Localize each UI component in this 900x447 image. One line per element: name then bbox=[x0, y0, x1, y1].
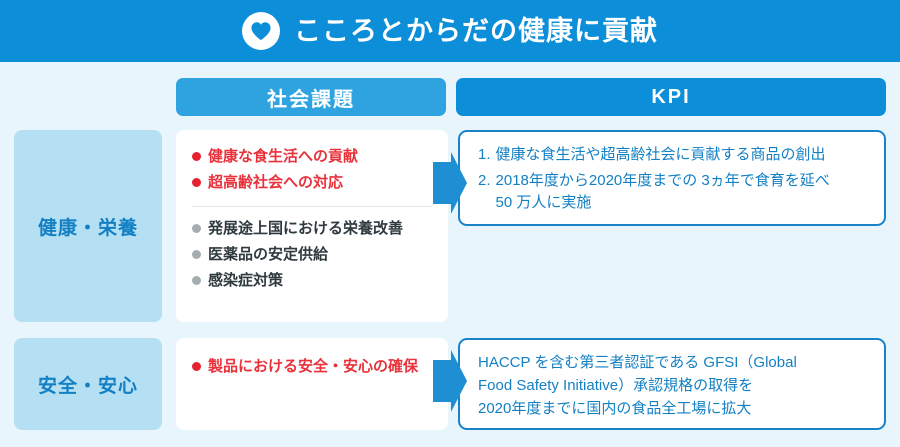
kpi-number: 2. bbox=[478, 170, 491, 192]
kpi-text: 2018年度から2020年度までの 3ヵ年で食育を延べ 50 万人に実施 bbox=[496, 170, 868, 214]
gray-bullet-icon bbox=[192, 276, 201, 285]
issue-list-primary: 健康な食生活への貢献 超高齢社会への対応 bbox=[192, 146, 432, 194]
category-label-safety-security: 安全・安心 bbox=[14, 338, 162, 430]
row-safety-security: 安全・安心 製品における安全・安心の確保 HACCP を含む第三者認証である G… bbox=[0, 338, 900, 430]
kpi-number: 1. bbox=[478, 144, 491, 166]
arrow-right-icon bbox=[433, 152, 467, 214]
kpi-list: 1. 健康な食生活や超高齢社会に貢献する商品の創出 2. 2018年度から202… bbox=[478, 144, 868, 215]
list-item: 発展途上国における栄養改善 bbox=[192, 218, 432, 239]
kpi-text-line: 50 万人に実施 bbox=[496, 192, 868, 214]
card-divider bbox=[192, 206, 432, 207]
issue-text: 健康な食生活への貢献 bbox=[208, 146, 358, 167]
kpi-card-health-nutrition: 1. 健康な食生活や超高齢社会に貢献する商品の創出 2. 2018年度から202… bbox=[458, 130, 886, 226]
issue-list-secondary: 発展途上国における栄養改善 医薬品の安定供給 感染症対策 bbox=[192, 218, 432, 292]
list-item: 健康な食生活への貢献 bbox=[192, 146, 432, 167]
page-title: こころとからだの健康に貢献 bbox=[294, 18, 658, 45]
issue-text: 超高齢社会への対応 bbox=[208, 172, 343, 193]
list-item: 2. 2018年度から2020年度までの 3ヵ年で食育を延べ 50 万人に実施 bbox=[478, 170, 868, 214]
row-health-nutrition: 健康・栄養 健康な食生活への貢献 超高齢社会への対応 発展途上国における栄養改善 bbox=[0, 130, 900, 322]
list-item: 医薬品の安定供給 bbox=[192, 244, 432, 265]
red-bullet-icon bbox=[192, 178, 201, 187]
red-bullet-icon bbox=[192, 362, 201, 371]
issue-text: 発展途上国における栄養改善 bbox=[208, 218, 403, 239]
header-band: こころとからだの健康に貢献 bbox=[0, 0, 900, 62]
kpi-text-line: 2020年度までに国内の食品全工場に拡大 bbox=[478, 398, 868, 421]
issue-text: 医薬品の安定供給 bbox=[208, 244, 328, 265]
slide-root: こころとからだの健康に貢献 社会課題 KPI 健康・栄養 健康な食生活への貢献 … bbox=[0, 0, 900, 447]
kpi-text-line: HACCP を含む第三者認証である GFSI（Global bbox=[478, 352, 868, 375]
arrow-right-icon bbox=[433, 350, 467, 412]
list-item: 製品における安全・安心の確保 bbox=[192, 356, 432, 377]
kpi-text: 健康な食生活や超高齢社会に貢献する商品の創出 bbox=[496, 144, 868, 166]
gray-bullet-icon bbox=[192, 224, 201, 233]
issue-card-safety-security: 製品における安全・安心の確保 bbox=[176, 338, 448, 430]
issue-text: 感染症対策 bbox=[208, 270, 283, 291]
column-header-kpi: KPI bbox=[456, 78, 886, 116]
list-item: 感染症対策 bbox=[192, 270, 432, 291]
kpi-text-line: 2018年度から2020年度までの 3ヵ年で食育を延べ bbox=[496, 170, 868, 192]
red-bullet-icon bbox=[192, 152, 201, 161]
kpi-text: HACCP を含む第三者認証である GFSI（Global Food Safet… bbox=[478, 352, 868, 420]
list-item: 超高齢社会への対応 bbox=[192, 172, 432, 193]
column-header-social-issue: 社会課題 bbox=[176, 78, 446, 116]
heart-icon bbox=[242, 12, 280, 50]
category-label-health-nutrition: 健康・栄養 bbox=[14, 130, 162, 322]
gray-bullet-icon bbox=[192, 250, 201, 259]
issue-text: 製品における安全・安心の確保 bbox=[208, 356, 418, 377]
list-item: 1. 健康な食生活や超高齢社会に貢献する商品の創出 bbox=[478, 144, 868, 166]
kpi-text-line: Food Safety Initiative）承認規格の取得を bbox=[478, 375, 868, 398]
header-inner: こころとからだの健康に貢献 bbox=[242, 12, 658, 50]
issue-card-health-nutrition: 健康な食生活への貢献 超高齢社会への対応 発展途上国における栄養改善 医薬品の安… bbox=[176, 130, 448, 322]
issue-list-primary: 製品における安全・安心の確保 bbox=[192, 356, 432, 377]
kpi-card-safety-security: HACCP を含む第三者認証である GFSI（Global Food Safet… bbox=[458, 338, 886, 430]
